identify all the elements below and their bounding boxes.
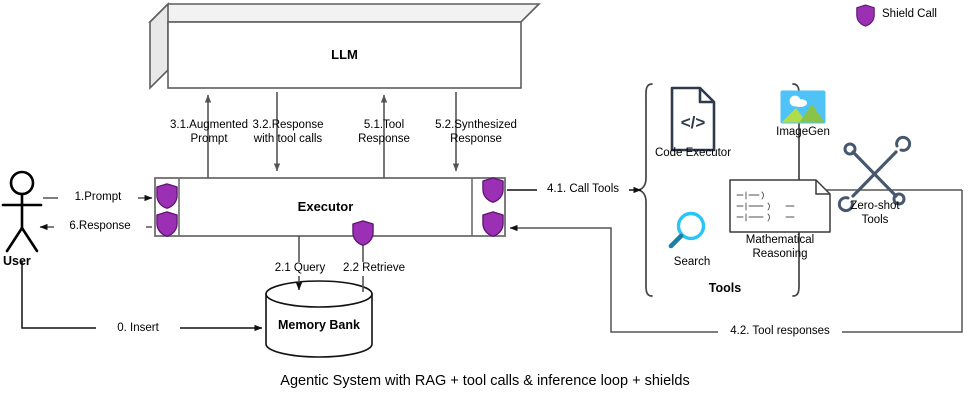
memory-bank-label: Memory Bank	[266, 319, 372, 333]
user-label: User	[3, 255, 31, 269]
user-node[interactable]	[3, 172, 41, 251]
tools-group-label: Tools	[660, 282, 790, 296]
legend-label: Shield Call	[882, 8, 937, 22]
shield-icon-executor-out-bottom	[483, 212, 503, 236]
edge-label-1-prompt: 1.Prompt	[58, 191, 138, 205]
code-document-icon[interactable]: </>	[672, 88, 714, 150]
diagram-vector-layer: </>	[0, 0, 970, 411]
edge-label-6-response: 6.Response	[54, 220, 146, 234]
tool-label-zero-shot-tools: Zero-shot Tools	[838, 200, 912, 227]
executor-label: Executor	[179, 200, 472, 214]
tool-label-mathematical-reasoning: Mathematical Reasoning	[730, 234, 830, 261]
edge-label-4-2-tool-responses: 4.2. Tool responses	[718, 325, 842, 339]
magnifier-icon[interactable]	[671, 214, 704, 247]
shield-icon-executor-in-bottom	[157, 212, 177, 236]
edge-label-3-2: 3.2.Response with tool calls	[230, 119, 346, 146]
edge-label-2-2-retrieve: 2.2 Retrieve	[332, 262, 416, 276]
tool-label-imagegen: ImageGen	[766, 126, 840, 140]
llm-node[interactable]	[150, 4, 539, 88]
shield-icon-legend	[857, 5, 874, 26]
shield-icon-memory-retrieve	[353, 221, 373, 245]
llm-label: LLM	[168, 48, 521, 62]
edge-label-0-insert: 0. Insert	[96, 322, 180, 336]
edge-label-4-1-call-tools: 4.1. Call Tools	[537, 183, 629, 197]
shield-icon-executor-out-top	[483, 178, 503, 202]
formula-document-icon[interactable]	[730, 180, 830, 232]
edge-label-5-2: 5.2.Synthesized Response	[420, 119, 532, 146]
edge-label-5-1: 5.1.Tool Response	[345, 119, 423, 146]
shield-icon-executor-in-top	[157, 184, 177, 208]
tool-label-search: Search	[660, 256, 724, 270]
image-icon[interactable]	[781, 91, 825, 123]
tool-label-code-executor: Code Executor	[648, 147, 738, 161]
edge-0-insert	[22, 261, 262, 328]
svg-text:</>: </>	[681, 113, 706, 132]
edge-label-2-1-query: 2.1 Query	[264, 262, 336, 276]
diagram-caption: Agentic System with RAG + tool calls & i…	[0, 375, 970, 389]
